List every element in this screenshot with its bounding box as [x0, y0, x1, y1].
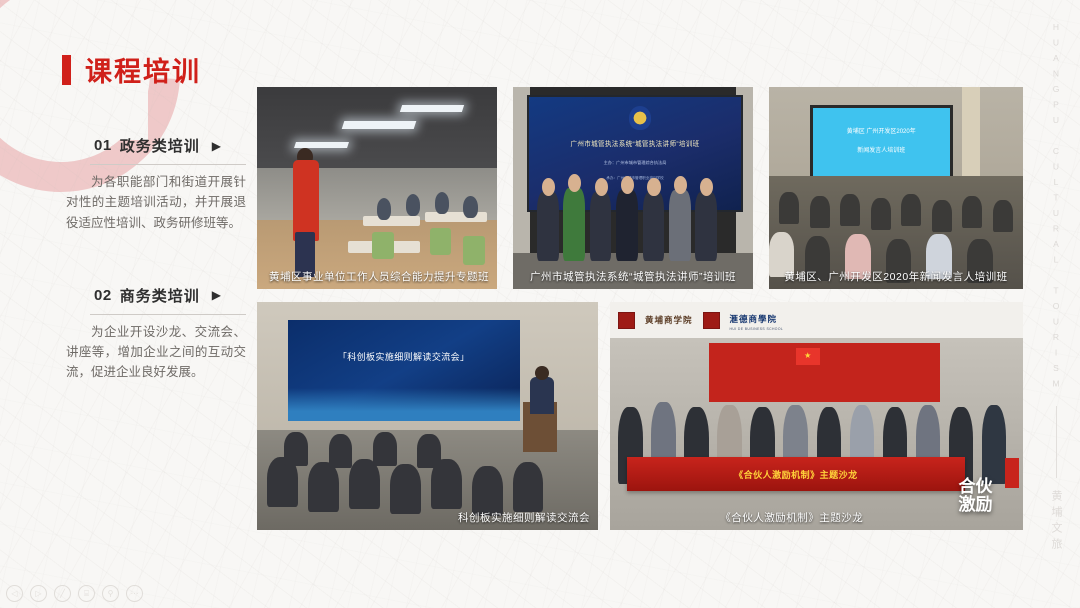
photo1-student: [377, 198, 391, 220]
photo4-projection-screen: 「科创板实施细则解读交流会」: [288, 320, 520, 420]
photo4-screen-title: 「科创板实施细则解读交流会」: [288, 350, 520, 363]
rail-english-text: HUANGPU CULTURAL TOURISM: [1051, 22, 1061, 394]
rail-chinese-text: 黄埔文旅: [1048, 490, 1064, 554]
photo1-chair: [463, 236, 485, 264]
photo4-speaker-body: [530, 377, 554, 413]
photo3-attendee: [871, 198, 891, 230]
section-01-title: 政务类培训: [120, 135, 200, 156]
photo2-person: [563, 188, 585, 261]
photo2-person: [643, 192, 665, 261]
photo4-caption: 科创板实施细则解读交流会: [257, 510, 598, 525]
school-seal-icon: [703, 312, 720, 329]
photo5-red-banner: 《合伙人激励机制》主题沙龙: [627, 457, 966, 491]
photo5-logo-left-text: 黄埔商学院: [645, 314, 693, 326]
photo2-person: [669, 190, 691, 261]
photo2-person: [590, 192, 612, 261]
photo2-person: [537, 192, 559, 261]
photo3-screen-line2: 新闻发言人培训班: [813, 145, 950, 154]
photo3-attendee: [901, 194, 921, 226]
more-options-icon[interactable]: ⋯: [126, 585, 143, 602]
photo1-lamp: [294, 142, 349, 148]
star-icon: ★: [804, 352, 811, 360]
photo3-attendee: [840, 194, 860, 226]
photo1-desk: [425, 212, 487, 222]
photo5-red-wall-panel: [709, 343, 940, 402]
photo4-audience: [373, 432, 397, 466]
section-02-title: 商务类培训: [120, 285, 200, 306]
photo2-caption: 广州市城管执法系统“城管执法讲师”培训班: [513, 269, 753, 284]
save-icon[interactable]: ⌸: [78, 585, 95, 602]
photo1-desk: [363, 216, 421, 226]
photo-urban-management-training[interactable]: 广州市城管执法系统“城管执法讲师”培训班 主办：广州市城市管理综合执法局 承办：…: [513, 87, 753, 289]
photo5-corner-mark: [1005, 458, 1019, 488]
photo4-audience: [308, 462, 339, 512]
section-01-divider: [90, 164, 246, 165]
photo5-logo-right-subtext: HUI DE BUSINESS SCHOOL: [730, 327, 784, 331]
photo3-screen: 黄埔区 广州开发区2020年 新闻发言人培训班: [810, 105, 953, 184]
previous-slide-icon[interactable]: ◁: [6, 585, 23, 602]
triangle-right-icon: ▶: [212, 140, 221, 152]
triangle-right-icon: ▶: [212, 289, 221, 301]
section-01-head: 01 政务类培训 ▶: [66, 135, 246, 156]
photo4-audience: [417, 434, 441, 468]
photo4-speaker-head: [535, 366, 549, 380]
photo5-banner-text: 《合伙人激励机制》主题沙龙: [734, 468, 858, 481]
photo5-logo-right-text: 滙德商學院: [730, 314, 778, 324]
photo1-lamp: [342, 121, 417, 129]
photo1-chair: [430, 228, 452, 254]
section-01-body: 为各职能部门和街道开展针对性的主题培训活动，并开展退役适应性培训、政务研修班等。: [66, 172, 246, 233]
photo2-person-head: [647, 178, 660, 196]
left-content-column: 01 政务类培训 ▶ 为各职能部门和街道开展针对性的主题培训活动，并开展退役适应…: [66, 135, 246, 409]
photo1-student: [463, 196, 477, 218]
photo3-attendee: [810, 196, 830, 228]
page-header: 课程培训: [62, 50, 201, 89]
photo1-chair: [372, 232, 394, 258]
photo3-screen-line1: 黄埔区 广州开发区2020年: [813, 126, 950, 135]
slide-toolbar[interactable]: ◁ ▷ ╱ ⌸ ⚲ ⋯: [6, 585, 143, 602]
play-slide-icon[interactable]: ▷: [30, 585, 47, 602]
photo4-audience: [513, 462, 544, 512]
photo1-lamp: [400, 105, 465, 112]
photo1-speaker-body: [293, 160, 319, 241]
photo3-attendee: [962, 196, 982, 228]
photo5-logo-bar: 黄埔商学院 滙德商學院 HUI DE BUSINESS SCHOOL: [610, 302, 1023, 338]
photo2-screen-title: 广州市城管执法系统“城管执法讲师”培训班: [529, 138, 740, 148]
photo1-student: [435, 192, 449, 214]
school-seal-icon: [618, 312, 635, 329]
section-02-number: 02: [94, 287, 112, 304]
photo-spokesperson-training[interactable]: 黄埔区 广州开发区2020年 新闻发言人培训班 黄埔区、广州开发区2020年新闻…: [769, 87, 1023, 289]
photo3-attendee: [993, 200, 1013, 232]
header-accent-bar: [62, 55, 71, 85]
photo2-person: [695, 192, 717, 261]
right-rail: HUANGPU CULTURAL TOURISM 黄埔文旅: [1032, 0, 1080, 608]
photo2-person-head: [674, 176, 687, 194]
rail-divider: [1056, 406, 1057, 478]
search-icon[interactable]: ⚲: [102, 585, 119, 602]
section-01[interactable]: 01 政务类培训 ▶ 为各职能部门和街道开展针对性的主题培训活动，并开展退役适应…: [66, 135, 246, 233]
photo2-screen-sub: 主办：广州市城市管理综合执法局: [529, 160, 740, 166]
photo4-audience: [349, 459, 380, 509]
photo4-audience: [329, 434, 353, 468]
photo-partner-incentive-salon[interactable]: 黄埔商学院 滙德商學院 HUI DE BUSINESS SCHOOL ★ 《合伙…: [610, 302, 1023, 530]
photo3-attendee: [779, 192, 799, 224]
photo4-audience: [284, 432, 308, 466]
photo2-person-head: [595, 178, 608, 196]
annotate-pen-icon[interactable]: ╱: [54, 585, 71, 602]
section-02-head: 02 商务类培训 ▶: [66, 285, 246, 306]
photo3-caption: 黄埔区、广州开发区2020年新闻发言人培训班: [769, 269, 1023, 284]
photo-classroom-training[interactable]: 黄埔区事业单位工作人员综合能力提升专题班: [257, 87, 497, 289]
photo1-caption: 黄埔区事业单位工作人员综合能力提升专题班: [257, 269, 497, 284]
photo-sci-tech-board-seminar[interactable]: 「科创板实施细则解读交流会」 科创板实施细则解读交流会: [257, 302, 598, 530]
photo4-audience: [472, 466, 503, 516]
page-title: 课程培训: [85, 50, 201, 89]
photo4-audience: [390, 464, 421, 514]
photo2-emblem-icon: [629, 106, 651, 130]
section-02-body: 为企业开设沙龙、交流会、讲座等，增加企业之间的互动交流，促进企业良好发展。: [66, 322, 246, 383]
photo4-screen-skyline: [288, 388, 520, 420]
section-02-divider: [90, 314, 246, 315]
section-02[interactable]: 02 商务类培训 ▶ 为企业开设沙龙、交流会、讲座等，增加企业之间的互动交流，促…: [66, 285, 246, 383]
photo1-student: [406, 194, 420, 216]
photo3-attendee: [932, 200, 952, 232]
section-01-number: 01: [94, 137, 112, 154]
photo2-person: [616, 190, 638, 261]
photo5-caption: 《合伙人激励机制》主题沙龙: [610, 510, 1023, 525]
photo2-person-head: [542, 178, 555, 196]
photo5-corner-line1: 合伙: [959, 478, 993, 496]
